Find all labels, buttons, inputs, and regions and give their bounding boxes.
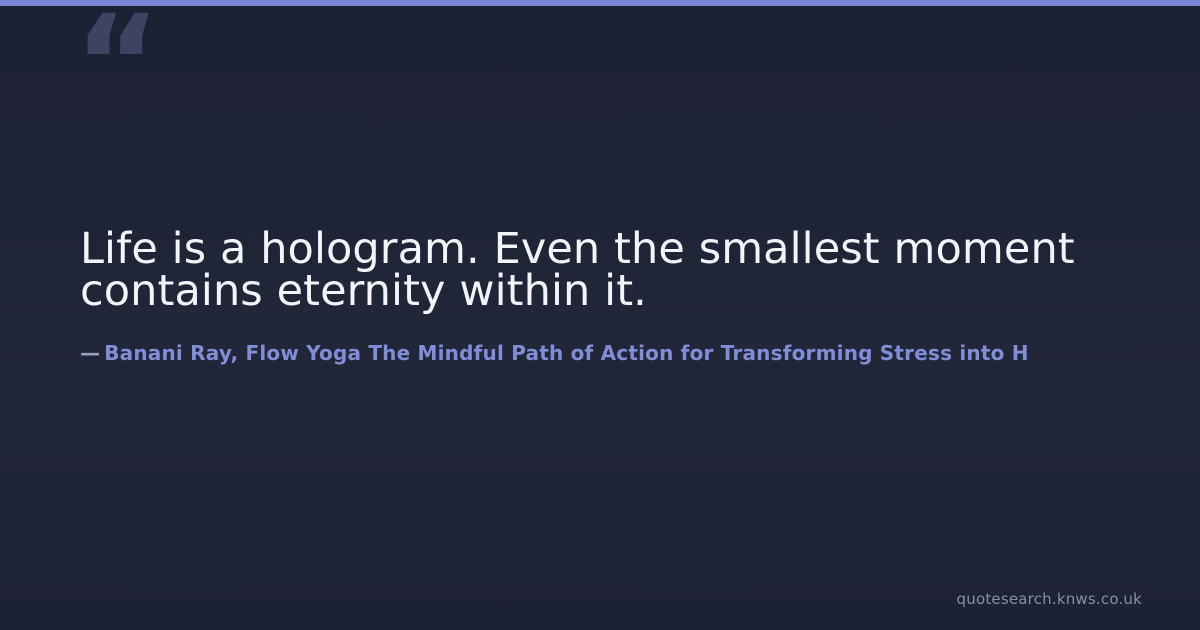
quote-card: “ Life is a hologram. Even the smallest … [0,0,1200,630]
attribution-dash: — [80,341,100,365]
opening-quotation-mark-icon: “ [74,0,159,130]
quote-attribution: —Banani Ray, Flow Yoga The Mindful Path … [80,340,1200,366]
quote-content: Life is a hologram. Even the smallest mo… [80,228,1200,366]
attribution-source: Banani Ray, Flow Yoga The Mindful Path o… [104,341,1028,365]
quote-text: Life is a hologram. Even the smallest mo… [80,228,1120,312]
site-url: quotesearch.knws.co.uk [957,590,1142,608]
top-accent-bar [0,0,1200,6]
